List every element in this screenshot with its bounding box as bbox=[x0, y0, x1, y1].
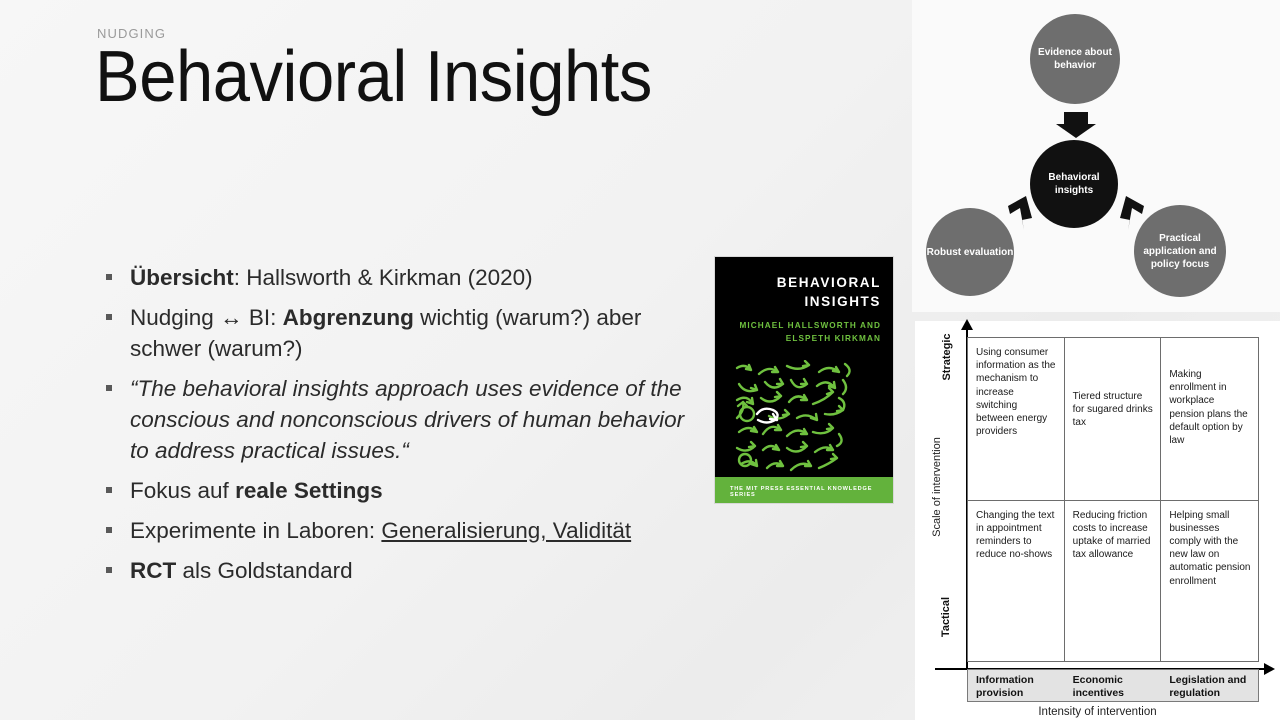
bullet-item-definition-quote: “The behavioral insights approach uses e… bbox=[104, 373, 704, 466]
bullet-item-reale-settings: Fokus auf reale Settings bbox=[104, 475, 704, 506]
bullet-text: Abgrenzung bbox=[283, 305, 414, 330]
bullet-text: : Hallsworth & Kirkman (2020) bbox=[234, 265, 533, 290]
bullet-text: RCT bbox=[130, 558, 176, 583]
y-axis-bottom-label: Tactical bbox=[940, 584, 952, 650]
matrix-cell: Reducing friction costs to increase upta… bbox=[1065, 500, 1162, 662]
circle-node-robust-evaluation: Robust evaluation bbox=[926, 208, 1014, 296]
book-series-label: THE MIT PRESS ESSENTIAL KNOWLEDGE SERIES bbox=[730, 486, 893, 498]
bullet-text: Übersicht bbox=[130, 265, 234, 290]
bullet-marker-icon bbox=[106, 487, 112, 493]
matrix-column-header: Information provision bbox=[968, 670, 1065, 701]
x-axis-label: Intensity of intervention bbox=[915, 706, 1280, 718]
bullet-marker-icon bbox=[106, 314, 112, 320]
bullet-item-rct: RCT als Goldstandard bbox=[104, 555, 704, 586]
bullet-item-abgrenzung: Nudging ↔ BI: Abgrenzung wichtig (warum?… bbox=[104, 302, 704, 364]
bullet-marker-icon bbox=[106, 527, 112, 533]
matrix-cell: Using consumer information as the mechan… bbox=[968, 338, 1065, 500]
circle-node-center: Behavioral insights bbox=[1030, 140, 1118, 228]
green-arrows-artwork bbox=[733, 360, 861, 478]
behavioral-insights-circle-diagram: Evidence about behavior Behavioral insig… bbox=[912, 0, 1280, 312]
bullet-text: Fokus auf bbox=[130, 478, 235, 503]
matrix-column-header: Legislation and regulation bbox=[1161, 670, 1258, 701]
bullet-text: Generalisierung, Validität bbox=[381, 518, 631, 543]
circle-node-evidence: Evidence about behavior bbox=[1030, 14, 1120, 104]
circle-node-practical-application: Practical application and policy focus bbox=[1134, 205, 1226, 297]
matrix-cell: Making enrollment in workplace pension p… bbox=[1161, 338, 1258, 500]
bullet-marker-icon bbox=[106, 567, 112, 573]
page-title: Behavioral Insights bbox=[95, 36, 652, 118]
matrix-grid: Using consumer information as the mechan… bbox=[967, 337, 1259, 662]
book-series-band: THE MIT PRESS ESSENTIAL KNOWLEDGE SERIES bbox=[715, 477, 893, 503]
bullet-marker-icon bbox=[106, 385, 112, 391]
bullet-list: Übersicht: Hallsworth & Kirkman (2020)Nu… bbox=[104, 262, 704, 595]
bullet-text: als Goldstandard bbox=[176, 558, 352, 583]
matrix-cell: Tiered structure for sugared drinks tax bbox=[1065, 338, 1162, 500]
bullet-text: reale Settings bbox=[235, 478, 383, 503]
book-authors: MICHAEL HALLSWORTH AND ELSPETH KIRKMAN bbox=[731, 319, 881, 345]
bullet-item-uebersicht: Übersicht: Hallsworth & Kirkman (2020) bbox=[104, 262, 704, 293]
book-cover-image: BEHAVIORAL INSIGHTS MICHAEL HALLSWORTH A… bbox=[714, 256, 894, 504]
bullet-text: Nudging ↔ BI: bbox=[130, 305, 283, 330]
y-axis-top-label: Strategic bbox=[941, 322, 953, 392]
bullet-marker-icon bbox=[106, 274, 112, 280]
bullet-text: “The behavioral insights approach uses e… bbox=[130, 376, 684, 463]
bullet-item-laborexperimente: Experimente in Laboren: Generalisierung,… bbox=[104, 515, 704, 546]
matrix-column-header: Economic incentives bbox=[1065, 670, 1162, 701]
intervention-matrix-diagram: Scale of intervention Strategic Tactical… bbox=[915, 321, 1280, 720]
bullet-text: Experimente in Laboren: bbox=[130, 518, 381, 543]
y-axis-label: Scale of intervention bbox=[931, 417, 943, 557]
book-title: BEHAVIORAL INSIGHTS bbox=[731, 273, 881, 311]
matrix-cell: Helping small businesses comply with the… bbox=[1161, 500, 1258, 662]
matrix-cell: Changing the text in appointment reminde… bbox=[968, 500, 1065, 662]
matrix-column-headers: Information provision Economic incentive… bbox=[967, 669, 1259, 702]
